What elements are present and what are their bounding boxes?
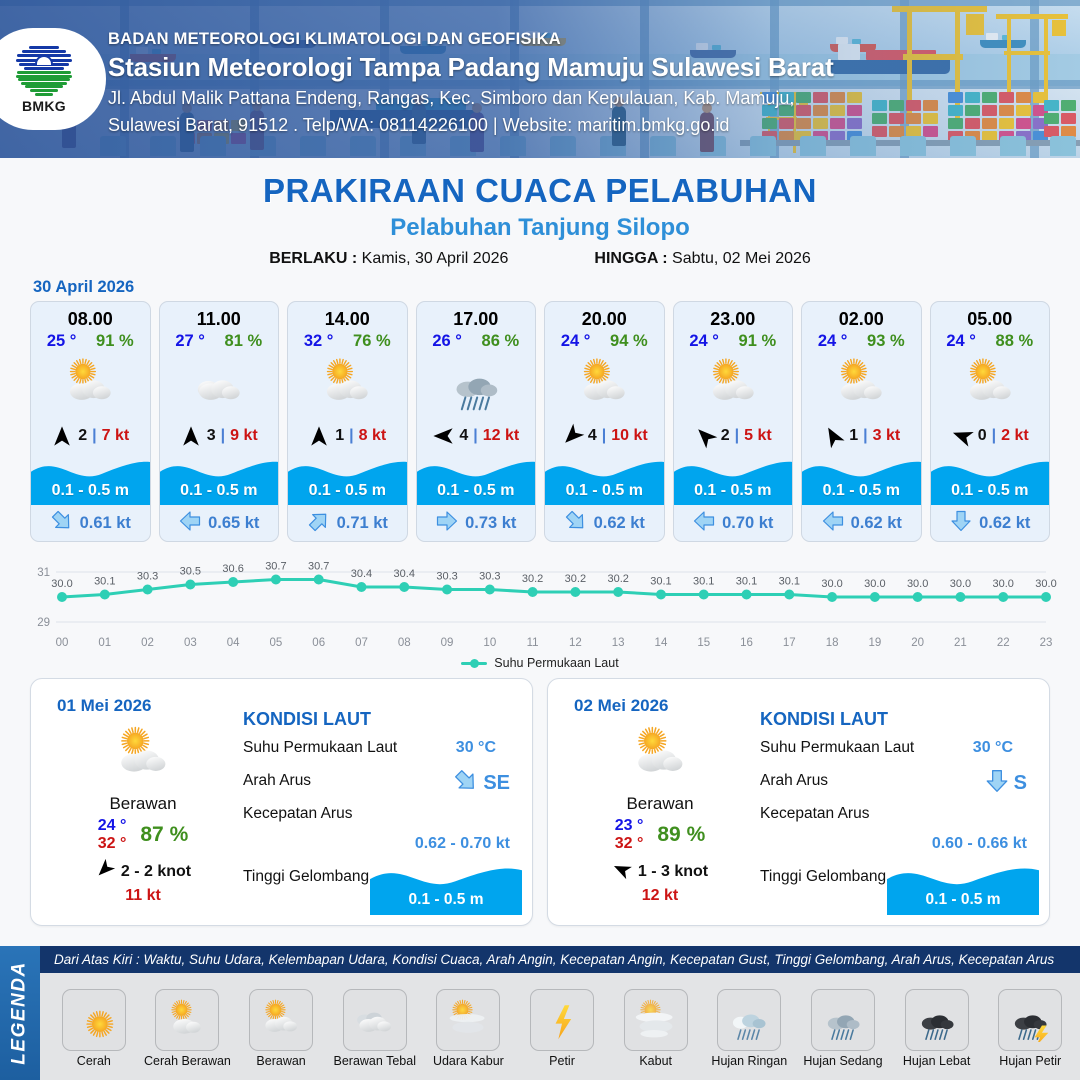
valid-until: HINGGA : Sabtu, 02 Mei 2026 [594,250,810,268]
svg-text:30.1: 30.1 [736,576,757,588]
svg-text:30.4: 30.4 [351,568,372,580]
valid-until-value: Sabtu, 02 Mei 2026 [672,250,811,267]
legend-item: Udara Kabur [423,989,515,1068]
card-humidity: 93 % [867,332,905,351]
current-direction-row: Arah Arus S [760,772,1035,796]
legend-item: Cerah Berawan [142,989,234,1068]
current-speed-row: Kecepatan Arus [760,805,1035,829]
legend-item-label: Hujan Sedang [803,1054,882,1068]
svg-text:22: 22 [997,637,1010,649]
partly-cloudy-icon [802,351,921,419]
wind-direction-arrow-icon [951,425,973,447]
address-line-2: Sulawesi Barat, 91512 . Telp/WA: 0811422… [108,114,834,137]
card-wind-row: 1 | 8 kt [288,419,407,453]
current-direction-arrow-icon [435,509,459,538]
card-temperature: 24 ° [818,332,848,351]
svg-text:20: 20 [911,637,924,649]
daily-date: 01 Mei 2026 [57,696,152,716]
current-speed-value-row: 0.60 - 0.66 kt [760,833,1035,859]
hourly-forecast-cards: 08.00 25 ° 91 % 2 | 7 kt 0.1 - 0.5 m 0.6… [0,301,1080,542]
card-current-row: 0.62 kt [802,505,921,541]
current-direction-arrow-icon [564,509,588,538]
daily-temp-max: 32 ° [615,835,644,853]
legend-item-label: Petir [549,1054,575,1068]
card-time: 05.00 [931,302,1050,331]
card-temperature: 32 ° [304,332,334,351]
address-line-1: Jl. Abdul Malik Pattana Endeng, Rangas, … [108,87,834,110]
wind-direction-arrow-icon [822,425,844,447]
svg-text:00: 00 [56,637,69,649]
legend-item: Petir [516,989,608,1068]
wind-direction-arrow-icon [694,425,716,447]
svg-text:30.3: 30.3 [479,571,500,583]
page-title: PRAKIRAAN CUACA PELABUHAN [0,172,1080,210]
card-time: 02.00 [802,302,921,331]
heavy-rain-icon [905,989,969,1051]
hourly-card[interactable]: 23.00 24 ° 91 % 2 | 5 kt 0.1 - 0.5 m 0.7… [673,301,794,542]
card-humidity: 88 % [996,332,1034,351]
svg-text:08: 08 [398,637,411,649]
haze-icon [436,989,500,1051]
current-speed-label: Kecepatan Arus [760,805,869,822]
gust-speed: 12 kt [483,427,519,445]
moderate-rain-icon [811,989,875,1051]
sea-conditions-title: KONDISI LAUT [760,709,1035,730]
card-current-row: 0.71 kt [288,505,407,541]
legend-bar: LEGENDA Dari Atas Kiri : Waktu, Suhu Uda… [0,946,1080,1080]
svg-text:30.1: 30.1 [650,576,671,588]
daily-wind: 2 - 2 knot [45,860,241,884]
separator: | [992,427,996,445]
svg-text:30.0: 30.0 [950,578,971,590]
separator: | [473,427,477,445]
light-rain-icon [717,989,781,1051]
gust-speed: 9 kt [230,427,258,445]
lightning-icon [530,989,594,1051]
card-temperature: 26 ° [432,332,462,351]
daily-gust: 11 kt [45,887,241,905]
card-wind-row: 4 | 10 kt [545,419,664,453]
legend-item: Cerah [48,989,140,1068]
card-temp-humidity: 27 ° 81 % [160,331,279,351]
hourly-card[interactable]: 05.00 24 ° 88 % 0 | 2 kt 0.1 - 0.5 m 0.6… [930,301,1051,542]
separator: | [349,427,353,445]
svg-text:17: 17 [783,637,796,649]
svg-text:30.3: 30.3 [436,571,457,583]
rain-icon [417,351,536,419]
partly-cloudy-icon [288,351,407,419]
wind-speed: 4 [459,427,468,445]
legend-item-label: Hujan Ringan [711,1054,787,1068]
station-name: Stasiun Meteorologi Tampa Padang Mamuju … [108,52,834,83]
card-time: 11.00 [160,302,279,331]
daily-temps: 23 ° 32 ° 89 % [562,817,758,853]
legend-item: Hujan Petir [984,989,1076,1068]
card-wave: 0.1 - 0.5 m [417,453,536,505]
svg-text:15: 15 [697,637,710,649]
svg-text:29: 29 [37,617,50,629]
legend-item: Berawan [235,989,327,1068]
partly-cloudy-icon [545,351,664,419]
gust-speed: 10 kt [611,427,647,445]
sst-value: 30 °C [973,739,1013,757]
svg-text:06: 06 [312,637,325,649]
svg-text:30.1: 30.1 [94,576,115,588]
current-direction-label: Arah Arus [243,772,311,789]
bmkg-logo-mark [16,44,72,96]
wind-direction-arrow-icon [95,860,114,884]
card-humidity: 91 % [739,332,777,351]
card-temperature: 24 ° [946,332,976,351]
daily-temps: 24 ° 32 ° 87 % [45,817,241,853]
daily-summary-left: Berawan 23 ° 32 ° 89 % 1 - 3 knot 12 kt [562,723,758,905]
hourly-date-label: 30 April 2026 [33,278,1080,297]
svg-text:12: 12 [569,637,582,649]
current-direction-arrow-icon [821,509,845,538]
wind-direction-arrow-icon [180,425,202,447]
svg-text:03: 03 [184,637,197,649]
current-direction-arrow-icon [307,509,331,538]
svg-text:30.2: 30.2 [522,573,543,585]
wave-height: 0.1 - 0.5 m [674,482,793,500]
svg-text:19: 19 [868,637,881,649]
svg-text:30.7: 30.7 [308,561,329,573]
svg-text:16: 16 [740,637,753,649]
legend-item-label: Hujan Lebat [903,1054,970,1068]
sunny-icon [62,989,126,1051]
wave-height: 0.1 - 0.5 m [417,482,536,500]
legend-main: Dari Atas Kiri : Waktu, Suhu Udara, Kele… [40,946,1080,1080]
hourly-card[interactable]: 17.00 26 ° 86 % 4 | 12 kt 0.1 - 0.5 m 0.… [416,301,537,542]
card-wave: 0.1 - 0.5 m [674,453,793,505]
daily-temp-min: 24 ° [98,817,127,835]
daily-temp-min: 23 ° [615,817,644,835]
current-speed-value-row: 0.62 - 0.70 kt [243,833,518,859]
wind-speed: 3 [207,427,216,445]
daily-wave-graphic: 0.1 - 0.5 m [370,859,522,915]
wind-speed: 4 [588,427,597,445]
current-speed: 0.71 kt [337,514,388,533]
card-time: 23.00 [674,302,793,331]
svg-text:02: 02 [141,637,154,649]
hourly-card[interactable]: 20.00 24 ° 94 % 4 | 10 kt 0.1 - 0.5 m 0.… [544,301,665,542]
daily-wind-range: 1 - 3 knot [638,863,708,881]
hourly-card[interactable]: 14.00 32 ° 76 % 1 | 8 kt 0.1 - 0.5 m 0.7… [287,301,408,542]
legend-item: Kabut [610,989,702,1068]
card-wave: 0.1 - 0.5 m [931,453,1050,505]
daily-wind-range: 2 - 2 knot [121,863,191,881]
legend-item-label: Cerah [77,1054,111,1068]
svg-text:30.6: 30.6 [222,563,243,575]
current-direction-row: Arah Arus SE [243,772,518,796]
wind-speed: 1 [335,427,344,445]
card-temperature: 24 ° [689,332,719,351]
current-direction-arrow-icon [453,768,479,799]
daily-condition: Berawan [45,794,241,814]
sea-surface-temperature-chart: 293130.030.130.330.530.630.730.730.430.4… [22,556,1058,654]
daily-condition: Berawan [562,794,758,814]
svg-text:30.0: 30.0 [864,578,885,590]
partly-cloudy-icon [562,723,758,792]
chart-legend-marker-icon [461,662,487,665]
card-temperature: 24 ° [561,332,591,351]
svg-text:30.7: 30.7 [265,561,286,573]
legend-side-title-text: LEGENDA [9,961,31,1064]
card-temp-humidity: 24 ° 91 % [674,331,793,351]
wind-direction-arrow-icon [561,425,583,447]
legend-item-label: Hujan Petir [999,1054,1061,1068]
daily-date: 02 Mei 2026 [574,696,669,716]
legend-item-label: Berawan Tebal [334,1054,416,1068]
legend-item-label: Berawan [256,1054,305,1068]
card-wave: 0.1 - 0.5 m [288,453,407,505]
card-humidity: 76 % [353,332,391,351]
card-humidity: 91 % [96,332,134,351]
bmkg-logo-text: BMKG [22,98,66,114]
wave-height: 0.1 - 0.5 m [160,482,279,500]
gust-speed: 5 kt [744,427,772,445]
card-time: 20.00 [545,302,664,331]
separator: | [221,427,225,445]
gust-speed: 2 kt [1001,427,1029,445]
wind-speed: 0 [978,427,987,445]
legend-item: Berawan Tebal [329,989,421,1068]
sst-row: Suhu Permukaan Laut 30 °C [243,739,518,763]
current-speed-label: Kecepatan Arus [243,805,352,822]
card-wave: 0.1 - 0.5 m [802,453,921,505]
svg-text:01: 01 [98,637,111,649]
separator: | [735,427,739,445]
legend-note: Dari Atas Kiri : Waktu, Suhu Udara, Kele… [40,946,1080,973]
card-temp-humidity: 26 ° 86 % [417,331,536,351]
daily-forecast-panels: 01 Mei 2026 Berawan 24 ° 32 ° 87 % 2 - 2… [0,670,1080,926]
card-humidity: 94 % [610,332,648,351]
valid-from-value: Kamis, 30 April 2026 [362,250,509,267]
separator: | [863,427,867,445]
partly-cloudy-icon [31,351,150,419]
card-temp-humidity: 24 ° 88 % [931,331,1050,351]
svg-text:30.1: 30.1 [779,576,800,588]
card-wind-row: 3 | 9 kt [160,419,279,453]
card-temp-humidity: 32 ° 76 % [288,331,407,351]
daily-panel[interactable]: 01 Mei 2026 Berawan 24 ° 32 ° 87 % 2 - 2… [30,678,533,926]
card-temp-humidity: 24 ° 93 % [802,331,921,351]
svg-text:11: 11 [527,637,539,649]
daily-gust: 12 kt [562,887,758,905]
daily-panel[interactable]: 02 Mei 2026 Berawan 23 ° 32 ° 89 % 1 - 3… [547,678,1050,926]
valid-until-label: HINGGA : [594,250,667,267]
current-speed-value: 0.60 - 0.66 kt [932,835,1027,853]
wind-speed: 2 [78,427,87,445]
daily-summary-left: Berawan 24 ° 32 ° 87 % 2 - 2 knot 11 kt [45,723,241,905]
card-humidity: 81 % [225,332,263,351]
hourly-card[interactable]: 08.00 25 ° 91 % 2 | 7 kt 0.1 - 0.5 m 0.6… [30,301,151,542]
legend-side-title: LEGENDA [0,946,40,1080]
legend-item: Hujan Ringan [703,989,795,1068]
current-speed: 0.62 kt [851,514,902,533]
sst-label: Suhu Permukaan Laut [243,739,397,756]
sea-conditions-title: KONDISI LAUT [243,709,518,730]
fog-icon [624,989,688,1051]
current-speed: 0.65 kt [208,514,259,533]
cloudy-icon [160,351,279,419]
current-speed: 0.62 kt [594,514,645,533]
current-direction-value: S [1014,772,1027,795]
chart-legend-label: Suhu Permukaan Laut [494,656,618,670]
partly-cloudy-icon [674,351,793,419]
page-subtitle: Pelabuhan Tanjung Silopo [0,214,1080,242]
card-current-row: 0.62 kt [545,505,664,541]
wind-speed: 2 [721,427,730,445]
legend-item: Hujan Sedang [797,989,889,1068]
svg-text:05: 05 [270,637,283,649]
daily-temp-max: 32 ° [98,835,127,853]
legend-item-label: Cerah Berawan [144,1054,231,1068]
sst-label: Suhu Permukaan Laut [760,739,914,756]
valid-from: BERLAKU : Kamis, 30 April 2026 [269,250,508,268]
daily-humidity: 87 % [140,823,188,847]
wind-direction-arrow-icon [308,425,330,447]
svg-text:10: 10 [483,637,496,649]
current-direction-arrow-icon [692,509,716,538]
separator: | [602,427,606,445]
card-time: 17.00 [417,302,536,331]
wind-speed: 1 [849,427,858,445]
wave-height: 0.1 - 0.5 m [288,482,407,500]
daily-humidity: 89 % [657,823,705,847]
svg-text:30.4: 30.4 [394,568,415,580]
card-temp-humidity: 24 ° 94 % [545,331,664,351]
card-time: 14.00 [288,302,407,331]
card-wave: 0.1 - 0.5 m [160,453,279,505]
svg-text:30.1: 30.1 [693,576,714,588]
wave-height: 0.1 - 0.5 m [802,482,921,500]
legend-item-label: Udara Kabur [433,1054,504,1068]
sst-row: Suhu Permukaan Laut 30 °C [760,739,1035,763]
card-current-row: 0.62 kt [931,505,1050,541]
sun-cloud-icon [155,989,219,1051]
daily-wind: 1 - 3 knot [562,860,758,884]
hourly-card[interactable]: 11.00 27 ° 81 % 3 | 9 kt 0.1 - 0.5 m 0.6… [159,301,280,542]
agency-name: BADAN METEOROLOGI KLIMATOLOGI DAN GEOFIS… [108,30,834,49]
card-wave: 0.1 - 0.5 m [545,453,664,505]
current-direction-arrow-icon [949,509,973,538]
card-wave: 0.1 - 0.5 m [31,453,150,505]
legend-item: Hujan Lebat [891,989,983,1068]
current-speed: 0.73 kt [465,514,516,533]
card-wind-row: 1 | 3 kt [802,419,921,453]
card-humidity: 86 % [482,332,520,351]
svg-text:18: 18 [826,637,839,649]
page-header: BMKG BADAN METEOROLOGI KLIMATOLOGI DAN G… [0,0,1080,158]
current-speed: 0.61 kt [80,514,131,533]
card-current-row: 0.61 kt [31,505,150,541]
valid-from-label: BERLAKU : [269,250,357,267]
svg-text:30.3: 30.3 [137,571,158,583]
svg-text:30.0: 30.0 [821,578,842,590]
overcast-icon [343,989,407,1051]
card-current-row: 0.73 kt [417,505,536,541]
bmkg-logo: BMKG [0,28,106,130]
partly-cloudy-icon [45,723,241,792]
legend-items: Cerah Cerah Berawan Berawan Berawan Teba… [40,973,1080,1080]
card-wind-row: 0 | 2 kt [931,419,1050,453]
partly-cloudy-icon [931,351,1050,419]
title-block: PRAKIRAAN CUACA PELABUHAN Pelabuhan Tanj… [0,158,1080,268]
header-text-block: BADAN METEOROLOGI KLIMATOLOGI DAN GEOFIS… [108,30,834,136]
svg-text:09: 09 [441,637,454,649]
daily-wave-value: 0.1 - 0.5 m [370,891,522,909]
chart-legend: Suhu Permukaan Laut [0,656,1080,670]
wind-direction-arrow-icon [612,860,631,884]
card-temp-humidity: 25 ° 91 % [31,331,150,351]
svg-text:30.5: 30.5 [180,566,201,578]
current-direction-value: SE [483,772,510,795]
svg-text:30.0: 30.0 [907,578,928,590]
daily-wave-graphic: 0.1 - 0.5 m [887,859,1039,915]
current-direction-label: Arah Arus [760,772,828,789]
current-direction-arrow-icon [50,509,74,538]
svg-text:21: 21 [954,637,967,649]
svg-text:04: 04 [227,637,240,649]
gust-speed: 7 kt [102,427,130,445]
legend-item-label: Kabut [639,1054,672,1068]
card-current-row: 0.65 kt [160,505,279,541]
sst-value: 30 °C [456,739,496,757]
separator: | [92,427,96,445]
current-direction-arrow-icon [178,509,202,538]
gust-speed: 3 kt [873,427,901,445]
card-time: 08.00 [31,302,150,331]
wave-height: 0.1 - 0.5 m [31,482,150,500]
wave-height-label: Tinggi Gelombang [243,868,369,885]
current-direction-arrow-icon [984,768,1010,799]
card-temperature: 25 ° [47,332,77,351]
svg-text:30.0: 30.0 [993,578,1014,590]
current-speed: 0.62 kt [979,514,1030,533]
svg-text:13: 13 [612,637,625,649]
svg-text:30.2: 30.2 [565,573,586,585]
card-wind-row: 2 | 5 kt [674,419,793,453]
svg-text:07: 07 [355,637,368,649]
current-speed: 0.70 kt [722,514,773,533]
card-wind-row: 2 | 7 kt [31,419,150,453]
card-current-row: 0.70 kt [674,505,793,541]
card-wind-row: 4 | 12 kt [417,419,536,453]
wind-direction-arrow-icon [432,425,454,447]
svg-text:14: 14 [655,637,668,649]
current-speed-value: 0.62 - 0.70 kt [415,835,510,853]
svg-text:30.0: 30.0 [1035,578,1056,590]
svg-text:23: 23 [1040,637,1053,649]
wave-height: 0.1 - 0.5 m [545,482,664,500]
partly-cloudy-icon [249,989,313,1051]
validity-row: BERLAKU : Kamis, 30 April 2026 HINGGA : … [0,250,1080,268]
thunderstorm-icon [998,989,1062,1051]
svg-text:31: 31 [37,567,50,579]
wave-height-label: Tinggi Gelombang [760,868,886,885]
daily-wave-value: 0.1 - 0.5 m [887,891,1039,909]
card-temperature: 27 ° [175,332,205,351]
current-speed-row: Kecepatan Arus [243,805,518,829]
wave-height: 0.1 - 0.5 m [931,482,1050,500]
hourly-card[interactable]: 02.00 24 ° 93 % 1 | 3 kt 0.1 - 0.5 m 0.6… [801,301,922,542]
wind-direction-arrow-icon [51,425,73,447]
svg-text:30.2: 30.2 [607,573,628,585]
gust-speed: 8 kt [359,427,387,445]
svg-text:30.0: 30.0 [51,578,72,590]
